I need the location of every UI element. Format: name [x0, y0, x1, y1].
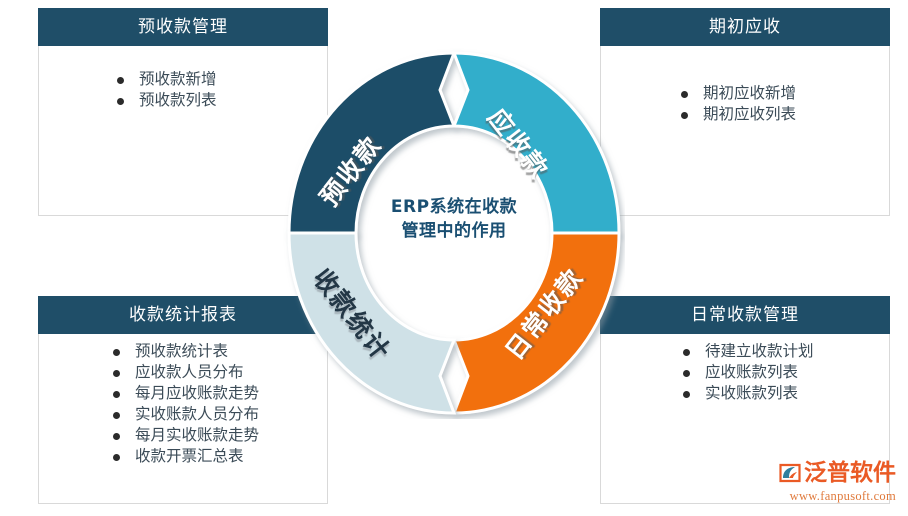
- list-item[interactable]: 期初应收新增: [677, 83, 889, 104]
- brand-url: www.fanpusoft.com: [778, 489, 896, 504]
- brand-logo-row: 泛普软件: [778, 458, 896, 488]
- list-item[interactable]: 期初应收列表: [677, 104, 889, 125]
- list-item[interactable]: 待建立收款计划: [679, 341, 889, 362]
- item-list-opening-receivable: 期初应收新增 期初应收列表: [677, 83, 889, 125]
- panel-title: 期初应收: [709, 19, 781, 36]
- fanpu-swirl-icon: [778, 461, 802, 485]
- slide-canvas: 预收款管理 预收款新增 预收款列表 期初应收 期初应收新增 期初应收列表 收款统…: [0, 0, 908, 516]
- cycle-diagram: 预收款 应收款 日常收款 收款统计 ERP系统在收款 管理中的作用: [283, 47, 625, 419]
- segment-daily-collection[interactable]: [454, 233, 619, 413]
- panel-title: 收款统计报表: [129, 307, 237, 324]
- cycle-diagram-center-title: ERP系统在收款 管理中的作用: [335, 195, 573, 243]
- panel-opening-receivable[interactable]: 期初应收 期初应收新增 期初应收列表: [600, 8, 890, 216]
- brand-name: 泛普软件: [804, 461, 896, 485]
- brand-logo[interactable]: 泛普软件 www.fanpusoft.com: [778, 458, 896, 504]
- center-title-line-2: 管理中的作用: [335, 219, 573, 243]
- panel-header-opening-receivable: 期初应收: [600, 8, 890, 46]
- list-item[interactable]: 每月实收账款走势: [109, 425, 327, 446]
- panel-body-opening-receivable: 期初应收新增 期初应收列表: [677, 83, 889, 125]
- center-title-line-1: ERP系统在收款: [335, 195, 573, 219]
- panel-title: 日常收款管理: [691, 307, 799, 324]
- segment-collection-statistics[interactable]: [289, 233, 454, 413]
- list-item[interactable]: 收款开票汇总表: [109, 446, 327, 467]
- panel-body-daily-collection-management: 待建立收款计划 应收账款列表 实收账款列表: [679, 341, 889, 404]
- panel-title: 预收款管理: [138, 19, 228, 36]
- list-item[interactable]: 实收账款列表: [679, 383, 889, 404]
- panel-header-daily-collection-management: 日常收款管理: [600, 296, 890, 334]
- list-item[interactable]: 应收账款列表: [679, 362, 889, 383]
- panel-header-prepayment-management: 预收款管理: [38, 8, 328, 46]
- item-list-daily-collection-management: 待建立收款计划 应收账款列表 实收账款列表: [679, 341, 889, 404]
